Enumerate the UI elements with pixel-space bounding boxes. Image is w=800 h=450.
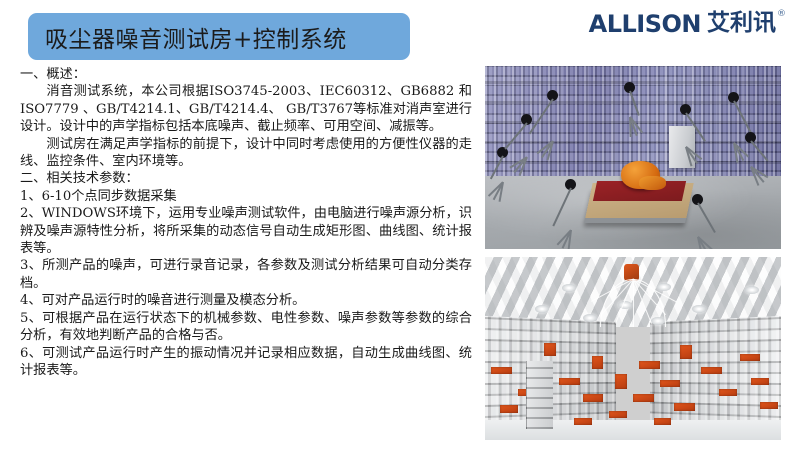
ceiling-light-icon <box>535 305 549 313</box>
chamber-door <box>526 361 553 429</box>
section-1-paragraph-1: 消音测试系统，本公司根据ISO3745-2003、IEC60312、GB6882… <box>20 83 472 135</box>
orange-acoustic-wedge <box>660 380 681 387</box>
orange-acoustic-wedge <box>751 378 769 385</box>
section-1-heading: 一、概述： <box>20 66 472 83</box>
section-2-item-3: 3、所测产品的噪声，可进行录音记录，各参数及测试分析结果可自动分类存档。 <box>20 257 472 292</box>
page-title-box: 吸尘器噪音测试房+控制系统 <box>28 13 410 60</box>
orange-acoustic-wedge <box>559 378 580 385</box>
orange-acoustic-wedge <box>680 345 692 360</box>
section-1-paragraph-2: 测试房在满足声学指标的前提下，设计中同时考虑使用的方便性仪器的走线、监控条件、室… <box>20 136 472 171</box>
photo-bottom-canvas <box>485 257 781 440</box>
orange-acoustic-wedge <box>719 389 737 396</box>
orange-acoustic-wedge <box>615 374 627 389</box>
content-text-column: 一、概述： 消音测试系统，本公司根据ISO3745-2003、IEC60312、… <box>20 66 472 379</box>
orange-acoustic-wedge <box>491 367 512 374</box>
orange-acoustic-wedge <box>674 403 695 410</box>
section-2-heading: 二、相关技术参数： <box>20 170 472 187</box>
orange-acoustic-wedge <box>740 354 761 361</box>
section-2-item-2: 2、WINDOWS环境下，运用专业噪声测试软件，由电脑进行噪声源分析，识辨及噪声… <box>20 205 472 257</box>
ceiling-light-icon <box>692 305 706 313</box>
brand-logo: ALLISON 艾利讯 ® <box>589 12 786 36</box>
section-2-item-4: 4、可对产品运行时的噪音进行测量及模态分析。 <box>20 292 472 309</box>
section-2-item-6: 6、可测试产品运行时产生的振动情况并记录相应数据，自动生成曲线图、统计报表等。 <box>20 345 472 380</box>
registered-trademark-icon: ® <box>777 10 786 19</box>
orange-acoustic-wedge <box>500 405 518 412</box>
vacuum-cleaner-nozzle <box>639 176 666 191</box>
orange-acoustic-wedge <box>760 402 778 409</box>
orange-acoustic-wedge <box>701 367 722 374</box>
section-2-item-5: 5、可根据产品在运行状态下的机械参数、电性参数、噪声参数等参数的综合分析，有效地… <box>20 310 472 345</box>
dome-rib <box>633 279 634 327</box>
orange-acoustic-wedge <box>583 394 604 401</box>
orange-acoustic-wedge <box>574 418 592 425</box>
section-2-item-1: 1、6-10个点同步数据采集 <box>20 188 472 205</box>
logo-text-cn: 艾利讯 <box>707 12 776 35</box>
orange-acoustic-wedge <box>654 418 672 425</box>
orange-acoustic-wedge <box>639 361 660 368</box>
orange-acoustic-wedge <box>633 394 654 401</box>
orange-acoustic-wedge <box>592 356 604 369</box>
logo-text-en: ALLISON <box>589 12 701 36</box>
slide-root: 吸尘器噪音测试房+控制系统 ALLISON 艾利讯 ® 一、概述： 消音测试系统… <box>0 0 800 450</box>
orange-acoustic-wedge <box>544 343 556 356</box>
photo-top-canvas <box>485 66 781 249</box>
ceiling-light-icon <box>657 283 671 291</box>
ceiling-light-icon <box>583 314 597 322</box>
photo-anechoic-chamber-interior <box>485 257 781 440</box>
photo-anechoic-chamber-vacuum-test <box>485 66 781 249</box>
orange-acoustic-wedge <box>609 411 627 418</box>
page-title: 吸尘器噪音测试房+控制系统 <box>45 20 347 54</box>
